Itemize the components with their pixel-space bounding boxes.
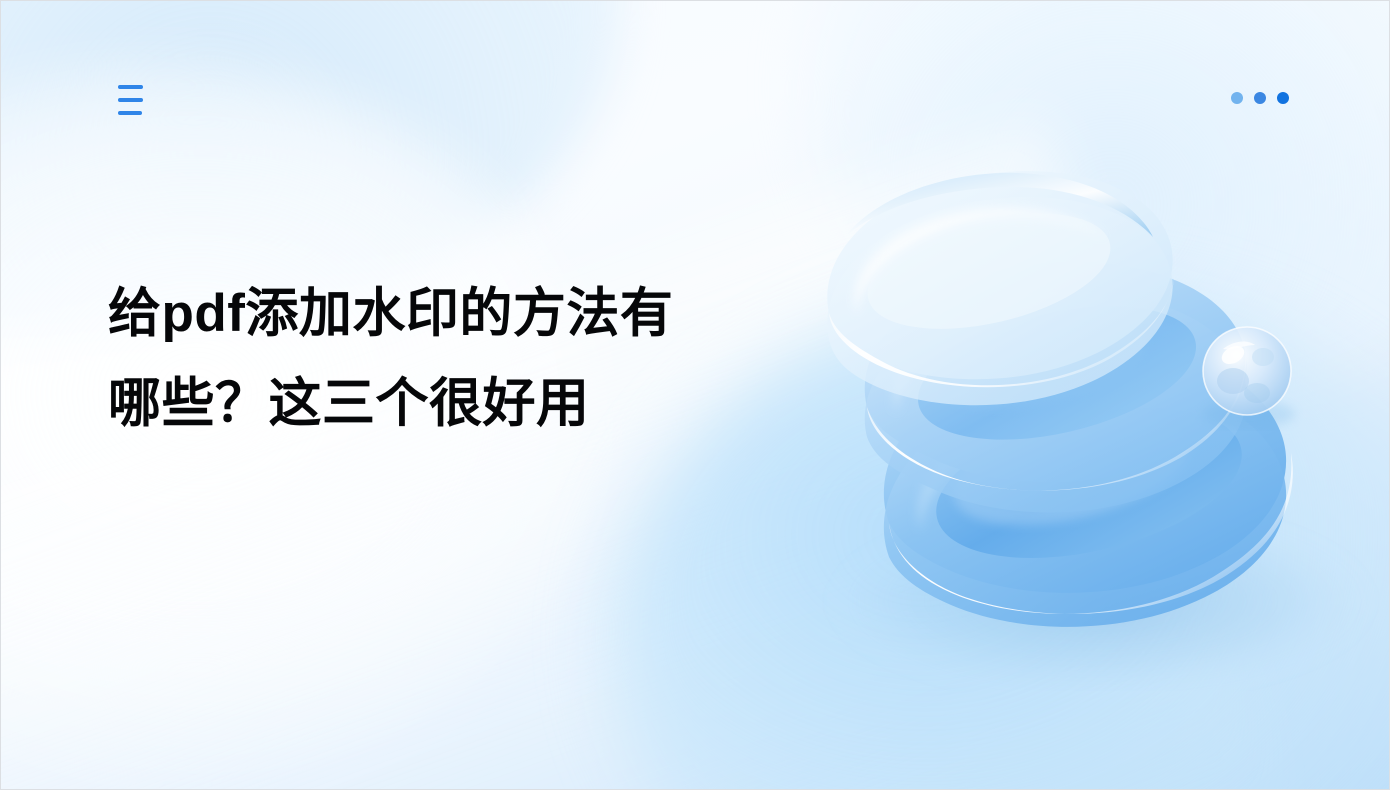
hamburger-bar-bottom xyxy=(118,111,142,115)
hamburger-menu-icon[interactable] xyxy=(118,85,145,115)
hamburger-bar-top xyxy=(118,85,143,89)
pagination-dot-1[interactable] xyxy=(1231,92,1243,104)
glass-discs-illustration xyxy=(771,131,1390,691)
pagination-dots[interactable] xyxy=(1231,92,1289,104)
slide-canvas: 给pdf添加水印的方法有 哪些？这三个很好用 xyxy=(0,0,1390,790)
pagination-dot-2[interactable] xyxy=(1254,92,1266,104)
page-title: 给pdf添加水印的方法有 哪些？这三个很好用 xyxy=(108,269,828,449)
pagination-dot-3[interactable] xyxy=(1277,92,1289,104)
hamburger-bar-middle xyxy=(118,98,143,102)
glass-sphere-small xyxy=(1203,327,1295,428)
